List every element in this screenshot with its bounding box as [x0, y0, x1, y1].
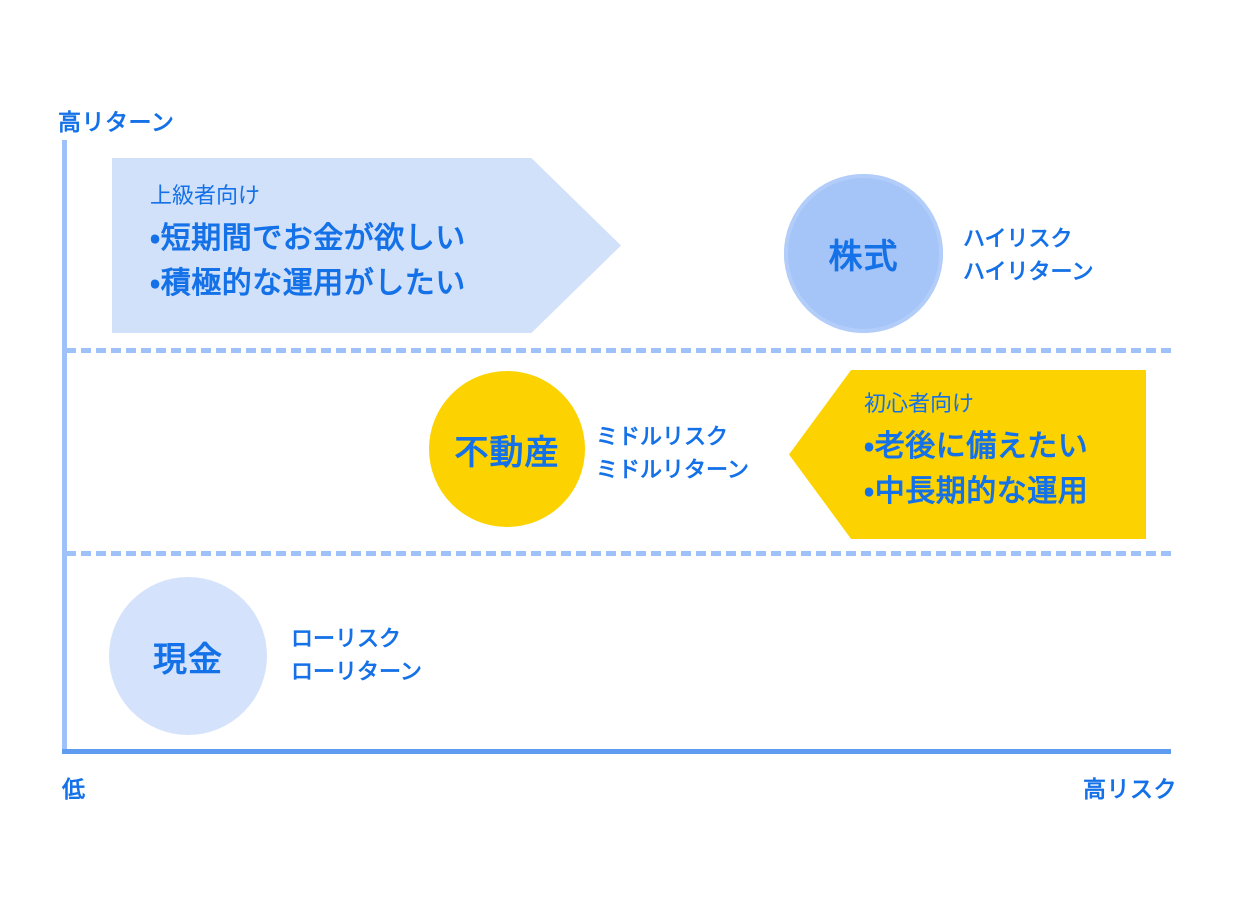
banner-beginner: 初心者向け ・老後に備えたい ・中長期的な運用	[789, 370, 1146, 539]
x-axis-right-label: 高リスク	[1083, 770, 1177, 804]
band-divider-upper	[66, 348, 1171, 353]
asset-caption-stock-line-2: ハイリターン	[963, 255, 1093, 288]
banner-beginner-item-1: ・老後に備えたい	[864, 424, 1088, 470]
asset-caption-real-estate: ミドルリスク ミドルリターン	[596, 420, 749, 486]
banner-advanced-item-1: ・短期間でお金が欲しい	[150, 216, 466, 262]
asset-caption-real-estate-line-1: ミドルリスク	[596, 420, 749, 453]
risk-return-diagram: 高リターン 低 高リスク 上級者向け ・短期間でお金が欲しい ・積極的な運用がし…	[0, 0, 1251, 900]
x-axis-left-label: 低	[62, 770, 86, 804]
x-axis-line	[62, 749, 1171, 754]
banner-beginner-item-2: ・中長期的な運用	[864, 469, 1088, 515]
asset-caption-stock: ハイリスク ハイリターン	[963, 222, 1093, 288]
banner-beginner-content: 初心者向け ・老後に備えたい ・中長期的な運用	[864, 388, 1088, 515]
asset-caption-real-estate-line-2: ミドルリターン	[596, 453, 749, 486]
asset-caption-cash-line-1: ローリスク	[291, 622, 422, 655]
banner-advanced-content: 上級者向け ・短期間でお金が欲しい ・積極的な運用がしたい	[150, 180, 466, 307]
asset-bubble-stock: 株式	[784, 174, 943, 333]
y-axis-line	[62, 140, 67, 754]
asset-caption-stock-line-1: ハイリスク	[963, 222, 1093, 255]
banner-beginner-heading: 初心者向け	[864, 388, 1088, 420]
y-axis-top-label: 高リターン	[58, 103, 174, 137]
banner-advanced-list: ・短期間でお金が欲しい ・積極的な運用がしたい	[150, 216, 466, 307]
asset-caption-cash: ローリスク ローリターン	[291, 622, 422, 688]
asset-caption-cash-line-2: ローリターン	[291, 655, 422, 688]
asset-bubble-real-estate: 不動産	[429, 371, 585, 527]
banner-advanced-heading: 上級者向け	[150, 180, 466, 212]
band-divider-lower	[66, 551, 1171, 556]
banner-beginner-list: ・老後に備えたい ・中長期的な運用	[864, 424, 1088, 515]
asset-bubble-cash: 現金	[109, 577, 267, 735]
banner-advanced-item-2: ・積極的な運用がしたい	[150, 261, 466, 307]
banner-advanced: 上級者向け ・短期間でお金が欲しい ・積極的な運用がしたい	[112, 158, 621, 333]
